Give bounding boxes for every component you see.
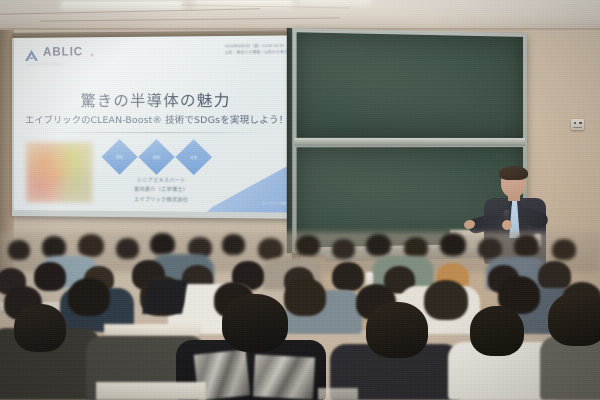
slide-diamond-label: 環境 (116, 154, 123, 159)
slide-diamond-label: 技術 (153, 154, 160, 159)
student-head (78, 234, 104, 257)
ablic-chevron-icon (24, 49, 39, 63)
wall-speaker-icon (571, 119, 584, 130)
ceiling-seam (0, 8, 260, 14)
ceiling-seam (180, 5, 350, 9)
slide-divider (40, 132, 273, 133)
student-head (14, 304, 66, 352)
slide-meta-line-2: 山形・東北エネ環境・山形から考える (225, 49, 292, 56)
chalkboard-rail (294, 138, 525, 146)
slide-header-meta: 2023年8月4日（金）13:00-16:30 山形・東北エネ環境・山形から考え… (225, 43, 292, 56)
lecture-hall-photo: ABLIC Analog Device Company 2023年8月4日（金）… (0, 0, 600, 400)
student-head (296, 235, 320, 256)
slide-diamond: 環境 (102, 139, 138, 175)
student-head (332, 262, 364, 291)
ceiling-light-icon (300, 0, 370, 3)
slide-diamond-label: 未来 (190, 155, 197, 160)
chalkboard-panel-top (297, 32, 523, 139)
slide-subtitle: エイブリックのCLEAN-Boost® 技術でSDGsを実現しよう！ (14, 112, 300, 126)
student-head (42, 236, 66, 258)
ceiling-light-icon (62, 2, 182, 7)
ceiling-seam (40, 17, 340, 21)
student-head (222, 294, 288, 352)
student-head (150, 233, 175, 255)
chalk-dust (297, 32, 523, 139)
speaker-grille (573, 127, 582, 128)
speaker-dot (579, 122, 581, 124)
student-head (258, 238, 283, 260)
glasses-icon (503, 178, 524, 183)
student-head (548, 292, 600, 346)
slide-presenter-credits: シニアエキスパート 宮内貴介（工学博士） エイブリック株式会社 (101, 176, 223, 205)
student-head (404, 237, 428, 258)
student-head (222, 234, 245, 255)
student-head (8, 240, 30, 260)
slide-diamond-group: 環境 技術 未来 (107, 144, 207, 170)
presenter-company: エイブリック株式会社 (101, 195, 223, 205)
student-head (34, 262, 66, 291)
laptop (142, 280, 188, 314)
slide-thumbnail-image (26, 142, 93, 203)
student-head (470, 306, 524, 356)
slide-diamond: 技術 (138, 139, 174, 175)
student-head (440, 233, 466, 256)
jacket-graphic-print (253, 354, 315, 399)
slide-title: 驚きの半導体の魅力 (14, 89, 300, 111)
student-head (366, 302, 428, 358)
student-head (284, 278, 326, 316)
logo-accent-dot (91, 53, 94, 56)
student-head (424, 280, 468, 320)
student-head (514, 235, 539, 257)
presenter-hand (502, 220, 512, 230)
ablic-logo-tagline: Analog Device Company (27, 63, 63, 66)
ceiling (0, 0, 600, 30)
student-head (332, 239, 355, 259)
student-head (68, 278, 110, 316)
student-head (552, 239, 576, 260)
ablic-logo: ABLIC (24, 47, 83, 63)
student-head (116, 238, 139, 259)
audience (0, 232, 600, 400)
projection-screen: ABLIC Analog Device Company 2023年8月4日（金）… (12, 30, 302, 219)
desk (96, 382, 206, 400)
desk (318, 388, 358, 400)
slide-diamond: 未来 (175, 139, 212, 175)
desk (104, 324, 200, 336)
presentation-slide: ABLIC Analog Device Company 2023年8月4日（金）… (14, 35, 300, 212)
ablic-logo-text: ABLIC (43, 47, 83, 59)
student-head (538, 261, 571, 291)
student-head (366, 234, 391, 256)
student-head (478, 238, 502, 259)
speaker-dot (574, 122, 576, 124)
